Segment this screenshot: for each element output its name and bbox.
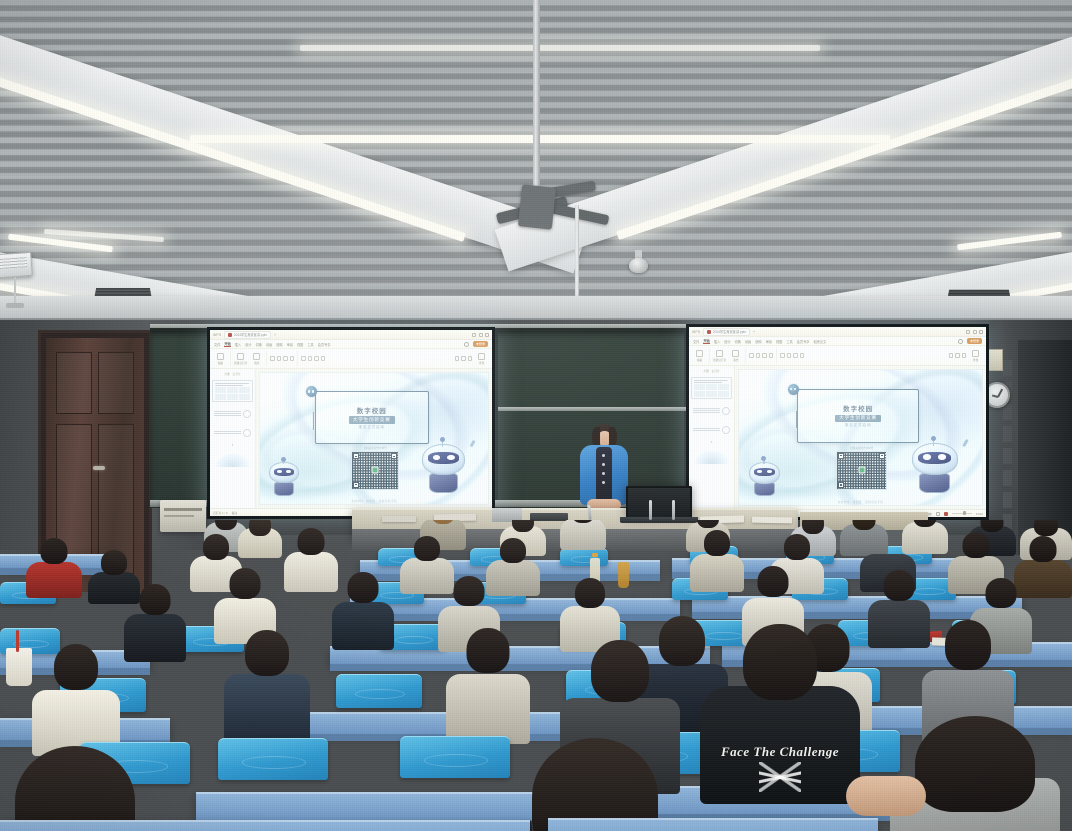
align-right-icon[interactable] (314, 356, 319, 361)
new-slide-icon[interactable] (237, 353, 244, 360)
plaque-stand (796, 411, 797, 429)
slide-subtitle: 大学生创新竞赛 (349, 416, 395, 423)
navigator-tab-slides[interactable]: 幻灯片 (712, 369, 720, 373)
ribbon-tab-tools[interactable]: 工具 (307, 342, 313, 347)
arrange-icon[interactable] (461, 356, 466, 361)
find-icon[interactable] (478, 353, 485, 360)
shape-icon[interactable] (949, 353, 954, 358)
app-workarea: 大纲 幻灯片 (689, 366, 986, 509)
presenter-hair (609, 427, 617, 447)
ribbon-group-shapes[interactable] (949, 353, 967, 358)
student (224, 630, 310, 740)
student (32, 644, 120, 752)
bullet-list-icon[interactable] (321, 356, 326, 361)
navigator-tab-outline[interactable]: 大纲 (224, 372, 229, 376)
slide-thumbnail[interactable] (691, 377, 732, 399)
ribbon-group-label: 版式 (733, 358, 738, 362)
qr-code-icon (351, 451, 399, 489)
shape-icon[interactable] (455, 356, 460, 361)
dome-security-camera-icon (629, 258, 648, 273)
ribbon-group-paste[interactable]: 粘贴 (214, 353, 227, 365)
document-tab-title: 2024学生竞赛宣讲.pptx (234, 332, 267, 337)
navigator-header[interactable]: 大纲 幻灯片 (691, 369, 732, 373)
robot-mascot-icon (422, 444, 465, 494)
document-tab[interactable]: 2024学生竞赛宣讲.pptx (703, 328, 750, 336)
italic-icon[interactable] (277, 356, 282, 361)
ribbon-tab-design[interactable]: 设计 (724, 339, 730, 344)
bold-icon[interactable] (270, 356, 275, 361)
document-tab[interactable]: 2024学生竞赛宣讲.pptx (224, 331, 271, 339)
ribbon-toolbar[interactable]: 粘贴 新建幻灯片 版式 (210, 349, 492, 369)
student (446, 628, 530, 740)
student (0, 746, 150, 831)
minimize-icon[interactable] (472, 333, 476, 337)
hoodie-emblem (759, 762, 801, 792)
slide-navigator-pane[interactable]: 大纲 幻灯片 (689, 366, 735, 509)
zoom-slider[interactable] (952, 513, 972, 514)
pin-icon (306, 386, 317, 397)
bottle-cap (592, 553, 598, 557)
slide-content[interactable]: 数字校园 大学生创新竞赛 报名正式启动 扫码关注官方公众号 (259, 372, 489, 505)
new-tab-button[interactable]: + (753, 330, 755, 334)
qr-center-logo (372, 467, 379, 474)
student-chair (336, 674, 422, 708)
equipment-slot (164, 515, 194, 517)
drink-cup (6, 648, 32, 686)
align-center-icon[interactable] (308, 356, 313, 361)
slide-qr-block: 扫码关注官方公众号 (351, 446, 399, 489)
new-tab-button[interactable]: + (274, 333, 276, 337)
student (284, 528, 338, 590)
slide-thumbnail[interactable] (691, 448, 732, 464)
podium-microphone (672, 500, 675, 520)
student (690, 530, 744, 590)
navigator-tab-slides[interactable]: 幻灯片 (233, 372, 241, 376)
status-zoom-level: 100% (976, 512, 983, 516)
presentation-app-window[interactable]: WPS 2024学生竞赛宣讲.pptx + 文件 开始 插入 设计 切换 (689, 327, 986, 517)
student-desk (0, 820, 530, 831)
ribbon-tab-slideshow[interactable]: 放映 (755, 339, 761, 344)
left-projection-screen[interactable]: WPS 2024学生竞赛宣讲.pptx + 文件 开始 插入 设计 切换 (207, 327, 495, 519)
ribbon-group-shapes[interactable] (455, 356, 473, 361)
close-icon[interactable] (979, 330, 983, 334)
ribbon-tab-animation[interactable]: 动画 (266, 342, 272, 347)
ribbon-group-label: 查找 (973, 358, 978, 362)
student (560, 578, 620, 648)
student (332, 572, 394, 646)
align-center-icon[interactable] (787, 353, 792, 358)
lecture-hall-photo: WPS 2024学生竞赛宣讲.pptx + 文件 开始 插入 设计 切换 (0, 0, 1072, 831)
navigator-slide-count: 5 (212, 444, 253, 447)
slide-thumbnail[interactable] (212, 380, 253, 402)
ribbon-group-paragraph[interactable] (301, 356, 325, 361)
door-panel (98, 352, 134, 414)
door-handle[interactable] (93, 466, 105, 470)
chart-icon (243, 410, 251, 418)
paste-icon[interactable] (217, 353, 224, 360)
ribbon-tab-design[interactable]: 设计 (245, 342, 251, 347)
search-icon[interactable] (464, 342, 469, 347)
fill-icon[interactable] (468, 356, 473, 361)
wall-air-conditioner-icon (0, 252, 33, 278)
slide-navigator-pane[interactable]: 大纲 幻灯片 (210, 369, 256, 508)
student (124, 584, 186, 658)
podium-microphone (649, 500, 652, 520)
chart-icon (722, 426, 730, 434)
slide-thumbnail[interactable] (691, 403, 732, 418)
layout-icon[interactable] (732, 350, 739, 357)
minimize-icon[interactable] (966, 330, 970, 334)
maximize-icon[interactable] (479, 333, 483, 337)
robot-mascot-icon (749, 462, 781, 497)
slide-thumbnail[interactable] (212, 425, 253, 440)
qr-code-icon (836, 451, 887, 491)
ribbon-group-new-slide[interactable]: 新建幻灯片 (234, 353, 247, 365)
slide-subtitle: 大学生创新竞赛 (835, 415, 881, 422)
right-projection-screen[interactable]: WPS 2024学生竞赛宣讲.pptx + 文件 开始 插入 设计 切换 (686, 324, 989, 520)
presenter (578, 424, 630, 520)
toolbar-separator (230, 351, 231, 366)
slide-thumbnail[interactable] (212, 451, 253, 467)
document-tab-title: 2024学生竞赛宣讲.pptx (713, 329, 746, 334)
presenter-hair (592, 427, 600, 447)
ribbon-tab-tools[interactable]: 工具 (786, 339, 792, 344)
ribbon-tab-file[interactable]: 文件 (214, 342, 220, 347)
ribbon-group-label: 粘贴 (218, 361, 223, 365)
ribbon-group-layout[interactable]: 版式 (250, 353, 263, 365)
student (560, 520, 606, 548)
bold-icon[interactable] (749, 353, 754, 358)
ribbon-group-find[interactable]: 查找 (475, 353, 488, 365)
podium-laptop[interactable] (626, 486, 692, 519)
qr-caption: 扫码关注官方公众号 (363, 446, 386, 450)
ribbon-tab-transition[interactable]: 切换 (256, 342, 262, 347)
ribbon-tab-home[interactable]: 开始 (224, 341, 230, 347)
document-icon (707, 330, 711, 334)
fluorescent-tube-light (190, 135, 890, 143)
slide-thumbnail[interactable] (691, 422, 732, 437)
presentation-app-window[interactable]: WPS 2024学生竞赛宣讲.pptx + 文件 开始 插入 设计 切换 (210, 330, 492, 516)
air-conditioner-bracket (6, 303, 24, 308)
app-menu-label[interactable]: WPS (692, 330, 700, 334)
air-conditioner-mount-rod (14, 277, 16, 305)
toolbar-separator (709, 348, 710, 363)
paste-icon[interactable] (696, 350, 703, 357)
slide-canvas[interactable]: 数字校园 大学生创新竞赛 报名正式启动 扫码关注官方公众号 (735, 366, 986, 509)
ribbon-group-layout[interactable]: 版式 (729, 350, 742, 362)
student-desk (548, 818, 878, 831)
slide-content[interactable]: 数字校园 大学生创新竞赛 报名正式启动 扫码关注官方公众号 (738, 369, 983, 506)
toolbar-separator (776, 348, 777, 363)
student-chair (218, 738, 328, 780)
login-badge[interactable]: 未登录 (473, 341, 488, 347)
ribbon-toolbar[interactable]: 粘贴 新建幻灯片 版式 (689, 346, 986, 366)
ribbon-group-label: 新建幻灯片 (713, 358, 726, 362)
plaque-stand (313, 412, 314, 429)
app-menu-label[interactable]: WPS (213, 333, 221, 337)
align-left-icon[interactable] (780, 353, 785, 358)
status-notes-button[interactable]: 备注 (232, 511, 238, 515)
toolbar-separator (745, 348, 746, 363)
ceiling-fan-pole (533, 0, 540, 196)
slideshow-icon[interactable] (944, 512, 948, 516)
toolbar-separator (266, 351, 267, 366)
navigator-tab-outline[interactable]: 大纲 (703, 369, 708, 373)
ribbon-tab-transition[interactable]: 切换 (735, 339, 741, 344)
student-chair (400, 736, 510, 778)
app-workarea: 大纲 幻灯片 (210, 369, 492, 508)
normal-view-icon[interactable] (936, 512, 940, 516)
underline-icon[interactable] (762, 353, 767, 358)
qr-center-logo (858, 467, 865, 474)
ribbon-tab-home[interactable]: 开始 (703, 338, 709, 344)
navigator-header[interactable]: 大纲 幻灯片 (212, 372, 253, 376)
chart-icon (722, 407, 730, 415)
ribbon-group-label: 查找 (479, 361, 484, 365)
ribbon-group-font[interactable] (749, 353, 773, 358)
slide-tagline: 报名正式启动 (845, 423, 871, 428)
slide-thumbnail[interactable] (212, 406, 253, 421)
underline-icon[interactable] (283, 356, 288, 361)
font-color-icon[interactable] (769, 353, 774, 358)
ribbon-tab-view[interactable]: 视图 (776, 339, 782, 344)
student-chair (560, 548, 608, 566)
align-right-icon[interactable] (793, 353, 798, 358)
ribbon-group-label: 新建幻灯片 (234, 361, 247, 365)
layout-icon[interactable] (253, 353, 260, 360)
ribbon-tab-review[interactable]: 审阅 (287, 342, 293, 347)
slide-title: 数字校园 (357, 405, 387, 415)
ribbon-group-new-slide[interactable]: 新建幻灯片 (713, 350, 726, 362)
student-hoodie: Face The Challenge (700, 624, 860, 800)
app-titlebar: WPS 2024学生竞赛宣讲.pptx + (210, 330, 492, 340)
student (26, 538, 82, 596)
chart-icon (243, 429, 251, 437)
ribbon-tab-review[interactable]: 审阅 (766, 339, 772, 344)
clasped-hands (846, 772, 926, 822)
student (238, 520, 282, 554)
slide-footer: 主办单位：校团委 · 创新创业学院 (260, 499, 488, 503)
ribbon-tab-extra[interactable]: 稻壳论文 (814, 339, 827, 344)
ribbon-tab-member[interactable]: 会员专享 (318, 342, 331, 347)
close-icon[interactable] (485, 333, 489, 337)
ribbon-group-find[interactable]: 查找 (969, 350, 982, 362)
ribbon-tab-slideshow[interactable]: 放映 (276, 342, 282, 347)
font-color-icon[interactable] (290, 356, 295, 361)
air-conditioner-grill (0, 257, 27, 269)
slide-canvas[interactable]: 数字校园 大学生创新竞赛 报名正式启动 扫码关注官方公众号 (256, 369, 492, 508)
ribbon-tab-strip[interactable]: 文件 开始 插入 设计 切换 动画 放映 审阅 视图 工具 会员专享 未登录 (210, 340, 492, 349)
align-left-icon[interactable] (301, 356, 306, 361)
slide-title: 数字校园 (843, 403, 873, 413)
toolbar-separator (297, 351, 298, 366)
slide-tagline: 报名正式启动 (359, 425, 385, 430)
bullet-list-icon[interactable] (800, 353, 805, 358)
ribbon-tab-view[interactable]: 视图 (297, 342, 303, 347)
audience-seating: Face The Challenge (0, 520, 1072, 831)
ribbon-tab-animation[interactable]: 动画 (745, 339, 751, 344)
hoodie-graphic-text: Face The Challenge (700, 744, 860, 760)
ribbon-tab-file[interactable]: 文件 (693, 339, 699, 344)
fill-icon[interactable] (962, 353, 967, 358)
cup-straw (16, 630, 19, 652)
ribbon-group-paragraph[interactable] (780, 353, 804, 358)
navigator-slide-count: 5 (691, 441, 732, 444)
status-slide-index: 幻灯片 1 / 5 (213, 511, 228, 515)
ribbon-group-label: 版式 (254, 361, 259, 365)
chalkboard-chalk-rail (498, 407, 690, 411)
ribbon-tab-insert[interactable]: 插入 (714, 339, 720, 344)
maximize-icon[interactable] (973, 330, 977, 334)
robot-mascot-icon (912, 443, 958, 494)
chalkboard-seam (495, 330, 498, 508)
italic-icon[interactable] (756, 353, 761, 358)
arrange-icon[interactable] (955, 353, 960, 358)
find-icon[interactable] (972, 350, 979, 357)
ceiling-fan-blade (518, 184, 556, 229)
slide-footer: 主办单位：校团委 · 创新创业学院 (739, 500, 982, 504)
door-panel (56, 352, 92, 414)
document-icon (228, 333, 232, 337)
robot-mascot-icon (269, 462, 299, 496)
ribbon-group-paste[interactable]: 粘贴 (693, 350, 706, 362)
ribbon-group-font[interactable] (270, 356, 294, 361)
student (868, 570, 930, 644)
fluorescent-tube-light (300, 45, 820, 51)
new-slide-icon[interactable] (716, 350, 723, 357)
login-badge[interactable]: 未登录 (967, 338, 982, 344)
ribbon-tab-strip[interactable]: 文件 开始 插入 设计 切换 动画 放映 审阅 视图 工具 会员专享 稻壳论文 … (689, 337, 986, 346)
qr-caption: 扫码关注官方公众号 (850, 446, 873, 450)
slide-title-plaque: 数字校园 大学生创新竞赛 报名正式启动 (315, 391, 429, 443)
ribbon-group-label: 粘贴 (697, 358, 702, 362)
equipment-slot (164, 508, 202, 511)
slide-title-plaque: 数字校园 大学生创新竞赛 报名正式启动 (797, 389, 919, 443)
app-titlebar: WPS 2024学生竞赛宣讲.pptx + (689, 327, 986, 337)
search-icon[interactable] (958, 339, 963, 344)
pin-icon (788, 384, 799, 395)
slide-qr-block: 扫码关注官方公众号 (836, 446, 887, 491)
ribbon-tab-insert[interactable]: 插入 (235, 342, 241, 347)
ribbon-tab-member[interactable]: 会员专享 (797, 339, 810, 344)
